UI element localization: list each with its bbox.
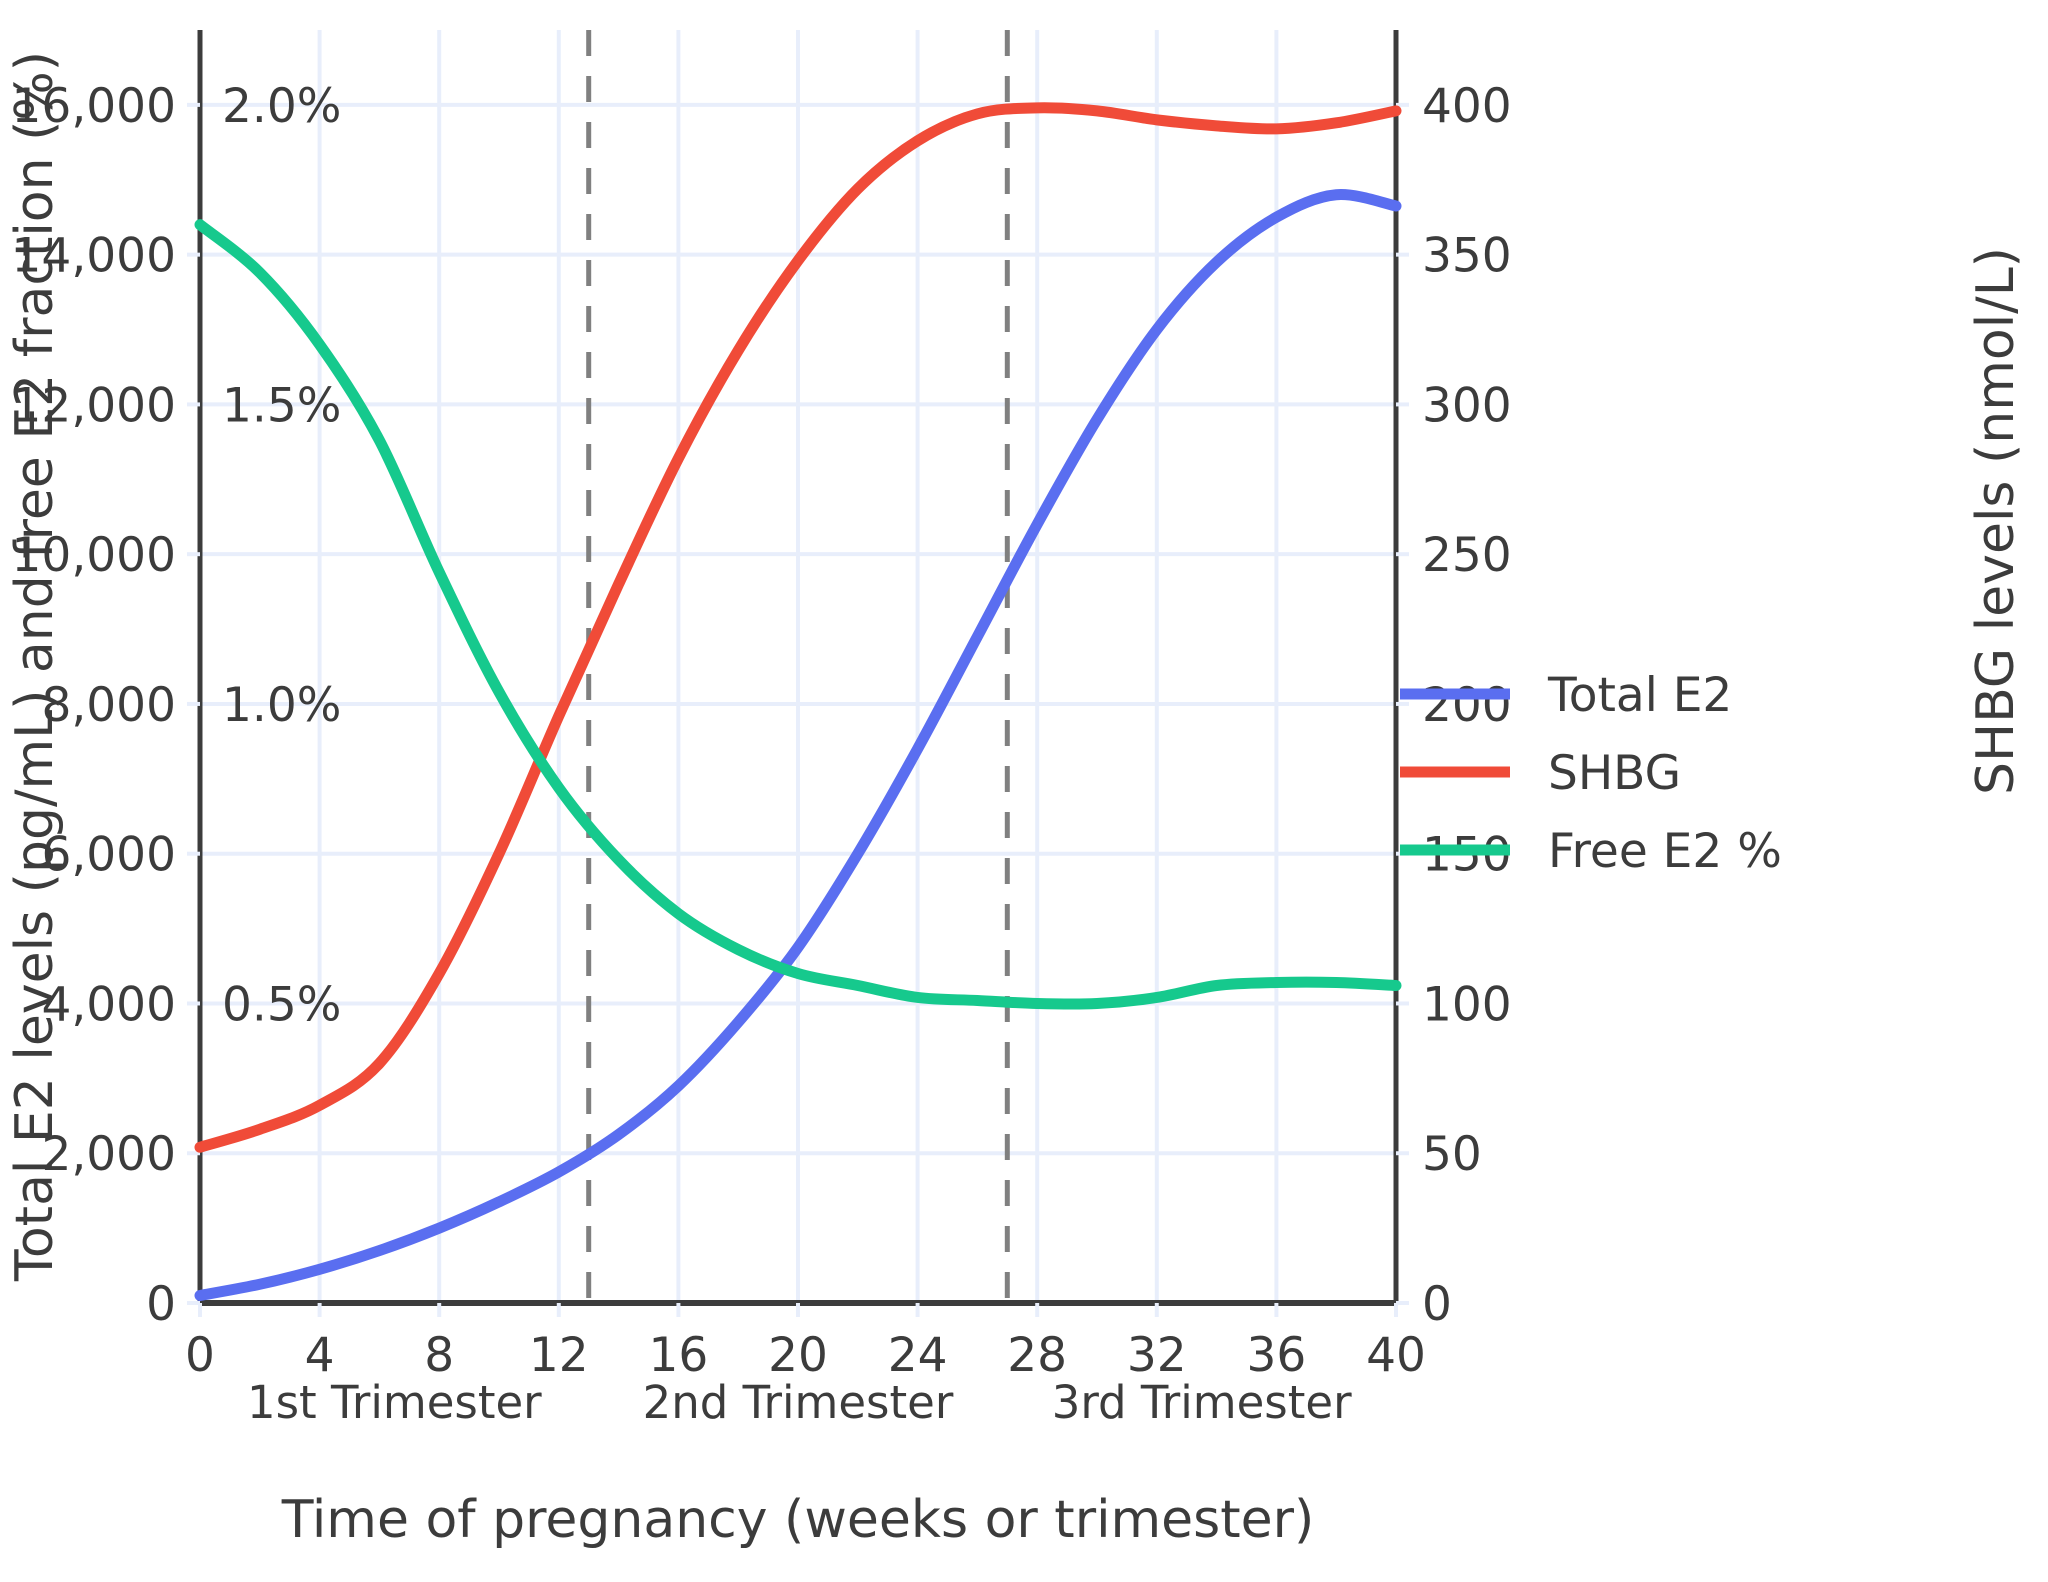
tick-label-x: 28 (1007, 1328, 1067, 1383)
percent-label: 1.5% (222, 378, 341, 433)
legend-label: Free E2 % (1548, 824, 1782, 879)
tick-label-right: 100 (1422, 977, 1512, 1032)
y-right-axis-title: SHBG levels (nmol/L) (1966, 247, 2026, 795)
tick-label-x: 12 (529, 1328, 589, 1383)
tick-label-x: 4 (305, 1328, 335, 1383)
tick-label-x: 16 (648, 1328, 708, 1383)
legend-label: SHBG (1548, 746, 1681, 801)
tick-label-x: 20 (768, 1328, 828, 1383)
trimester-label: 2nd Trimester (643, 1376, 954, 1429)
tick-label-right: 400 (1422, 79, 1512, 134)
percent-label: 1.0% (222, 678, 341, 733)
tick-label-left: 0 (146, 1277, 176, 1332)
tick-label-right: 200 (1422, 678, 1512, 733)
tick-label-right: 350 (1422, 229, 1512, 284)
chart-figure: 02,0004,0006,0008,00010,00012,00014,0001… (0, 0, 2048, 1582)
y-left-axis-title: Total E2 levels (pg/mL) and free E2 frac… (5, 51, 65, 1282)
percent-label: 0.5% (222, 977, 341, 1032)
tick-label-right: 250 (1422, 528, 1512, 583)
tick-label-right: 300 (1422, 378, 1512, 433)
trimester-labels: 1st Trimester2nd Trimester3rd Trimester (247, 1376, 1352, 1429)
tick-label-x: 8 (424, 1328, 454, 1383)
tick-label-x: 40 (1366, 1328, 1426, 1383)
trimester-label: 3rd Trimester (1052, 1376, 1352, 1429)
tick-label-x: 32 (1127, 1328, 1187, 1383)
x-axis-title: Time of pregnancy (weeks or trimester) (281, 1490, 1315, 1550)
tick-label-right: 0 (1422, 1277, 1452, 1332)
trimester-label: 1st Trimester (247, 1376, 542, 1429)
percent-label: 2.0% (222, 79, 341, 134)
tick-label-right: 50 (1422, 1127, 1482, 1182)
tick-label-x: 24 (888, 1328, 948, 1383)
tick-label-x: 36 (1246, 1328, 1306, 1383)
legend-label: Total E2 (1547, 668, 1732, 723)
line-chart-canvas: 02,0004,0006,0008,00010,00012,00014,0001… (0, 0, 2048, 1582)
tick-label-x: 0 (185, 1328, 215, 1383)
